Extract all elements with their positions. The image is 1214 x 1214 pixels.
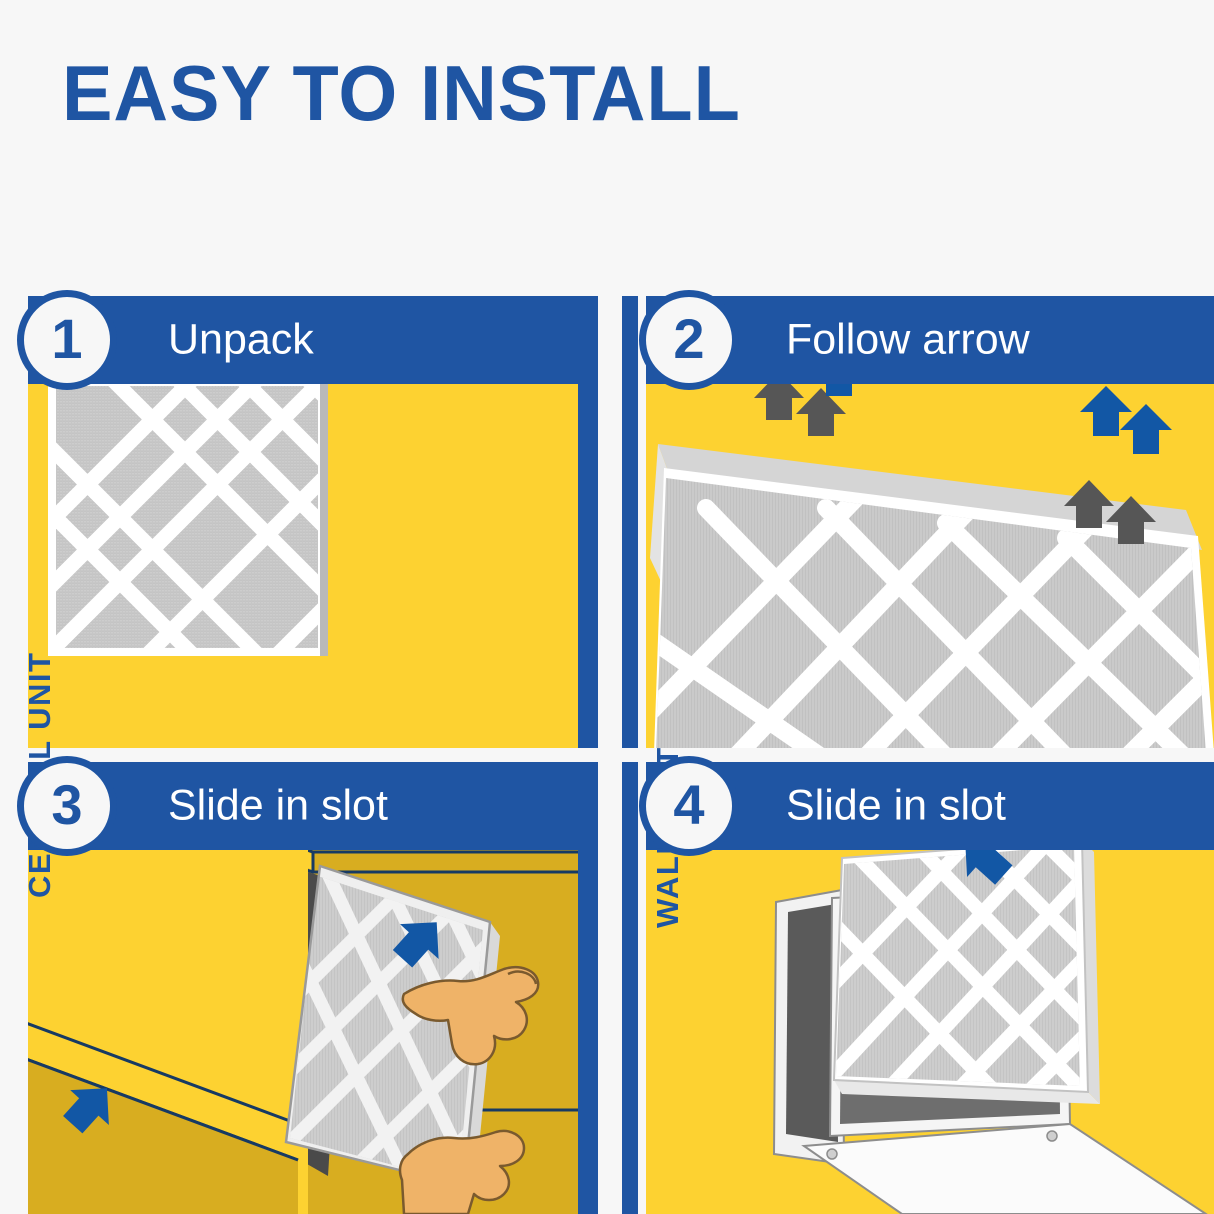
panel-2-divider-bar [622,296,638,748]
step-2-number-badge: 2 [639,290,739,390]
step-2-label: Follow arrow [786,316,1030,365]
step-1-label: Unpack [168,316,314,365]
step-panel-1: Unpack 1 [0,296,598,748]
step-1-number-badge: 1 [17,290,117,390]
page-title: EASY TO INSTALL [62,54,741,132]
central-unit-insertion-graphic [28,824,598,1214]
step-4-number-badge: 4 [639,756,739,856]
wall-unit-label-wrap: WALL UNIT [0,892,30,1202]
step-panel-3: Slide in slot 3 [0,762,598,1214]
step-4-number: 4 [646,777,732,833]
step-1-number: 1 [24,311,110,367]
step-3-number-badge: 3 [17,756,117,856]
step-panel-2: Follow arrow 2 [622,296,1214,748]
step-4-label: Slide in slot [786,782,1006,831]
steps-grid: Unpack 1 [0,296,1214,1214]
panel-4-divider-bar [622,762,638,1214]
step-panel-4: Slide in slot 4 [622,762,1214,1214]
step-2-number: 2 [646,311,732,367]
wall-unit-insertion-graphic [646,824,1214,1214]
step-4-illustration [646,824,1214,1214]
step-3-label: Slide in slot [168,782,388,831]
flat-air-filter-graphic [28,358,598,748]
step-2-illustration [646,358,1214,748]
step-3-illustration [28,824,598,1214]
step-3-number: 3 [24,777,110,833]
arrow-up-blue-right [1058,386,1188,486]
step-1-illustration [28,358,598,748]
